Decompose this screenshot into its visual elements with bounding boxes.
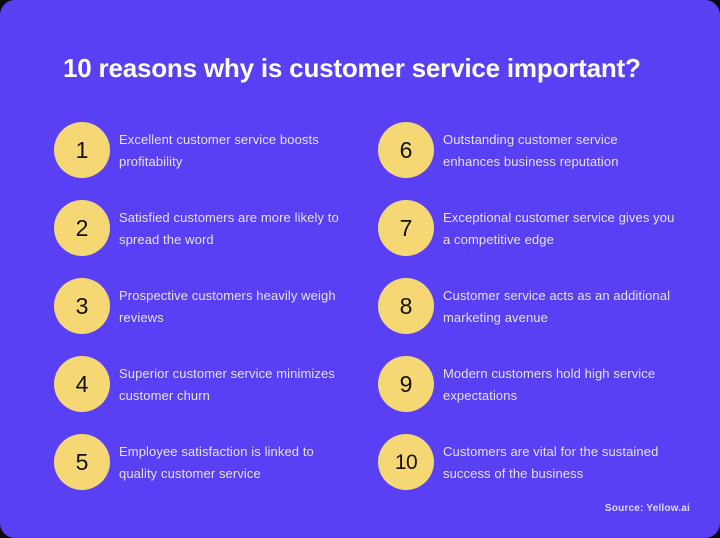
- reasons-grid: 1Excellent customer service boosts profi…: [0, 122, 720, 502]
- reason-item: 9Modern customers hold high service expe…: [378, 356, 678, 434]
- reason-number-badge: 2: [54, 200, 110, 256]
- reason-number-badge: 10: [378, 434, 434, 490]
- reasons-column-left: 1Excellent customer service boosts profi…: [54, 122, 354, 512]
- reason-number: 10: [395, 452, 417, 473]
- reason-number-badge: 8: [378, 278, 434, 334]
- reason-number: 9: [400, 373, 413, 396]
- reason-text: Customer service acts as an additional m…: [443, 285, 678, 329]
- reason-number: 4: [76, 373, 89, 396]
- reason-number-badge: 6: [378, 122, 434, 178]
- reason-text: Superior customer service minimizes cust…: [119, 363, 354, 407]
- reason-item: 3Prospective customers heavily weigh rev…: [54, 278, 354, 356]
- reason-item: 10Customers are vital for the sustained …: [378, 434, 678, 512]
- reason-number-badge: 3: [54, 278, 110, 334]
- reason-item: 4Superior customer service minimizes cus…: [54, 356, 354, 434]
- reason-text: Modern customers hold high service expec…: [443, 363, 678, 407]
- reason-number: 8: [400, 295, 413, 318]
- reason-number-badge: 1: [54, 122, 110, 178]
- reason-text: Employee satisfaction is linked to quali…: [119, 441, 354, 485]
- reason-item: 5Employee satisfaction is linked to qual…: [54, 434, 354, 512]
- reasons-column-right: 6Outstanding customer service enhances b…: [378, 122, 678, 512]
- reason-text: Prospective customers heavily weigh revi…: [119, 285, 354, 329]
- reason-item: 6Outstanding customer service enhances b…: [378, 122, 678, 200]
- reason-number-badge: 5: [54, 434, 110, 490]
- infographic-card: 10 reasons why is customer service impor…: [0, 0, 720, 538]
- reason-number-badge: 4: [54, 356, 110, 412]
- reason-text: Satisfied customers are more likely to s…: [119, 207, 354, 251]
- reason-number: 3: [76, 295, 89, 318]
- reason-number-badge: 7: [378, 200, 434, 256]
- reason-text: Exceptional customer service gives you a…: [443, 207, 678, 251]
- reason-item: 7Exceptional customer service gives you …: [378, 200, 678, 278]
- reason-number: 6: [400, 139, 413, 162]
- reason-text: Excellent customer service boosts profit…: [119, 129, 354, 173]
- reason-item: 8Customer service acts as an additional …: [378, 278, 678, 356]
- reason-number: 7: [400, 217, 413, 240]
- reason-item: 1Excellent customer service boosts profi…: [54, 122, 354, 200]
- reason-number: 1: [76, 139, 89, 162]
- reason-text: Outstanding customer service enhances bu…: [443, 129, 678, 173]
- reason-number: 2: [76, 217, 89, 240]
- reason-text: Customers are vital for the sustained su…: [443, 441, 678, 485]
- source-attribution: Source: Yellow.ai: [605, 502, 690, 516]
- reason-number-badge: 9: [378, 356, 434, 412]
- reason-item: 2Satisfied customers are more likely to …: [54, 200, 354, 278]
- reason-number: 5: [76, 451, 89, 474]
- page-title: 10 reasons why is customer service impor…: [63, 52, 673, 84]
